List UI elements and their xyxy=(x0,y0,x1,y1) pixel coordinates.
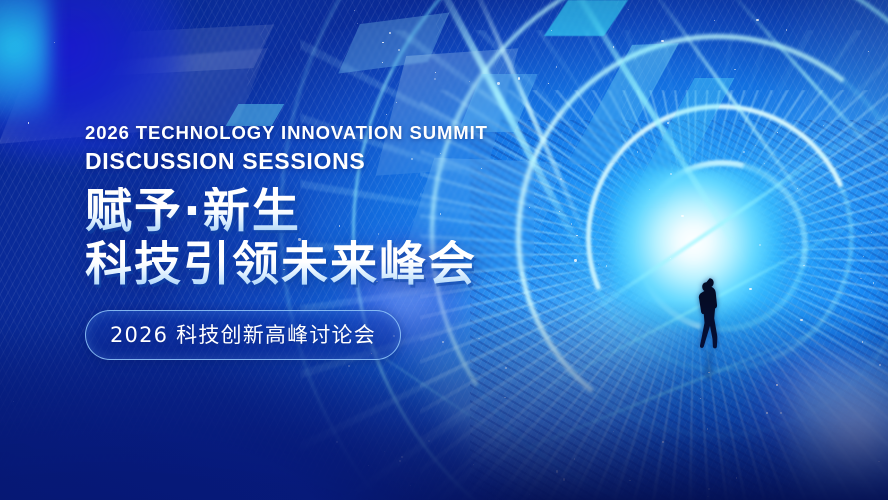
person-reflection xyxy=(694,348,724,382)
banner-text-block: 2026 TECHNOLOGY INNOVATION SUMMIT DISCUS… xyxy=(85,122,555,360)
particle-dot xyxy=(13,401,14,402)
blob-white-right xyxy=(790,360,888,500)
headline-line-1: 赋予·新生 xyxy=(85,187,555,237)
walking-person-silhouette xyxy=(694,277,724,349)
cta-pill-label: 2026 科技创新高峰讨论会 xyxy=(110,319,376,349)
eyebrow-line-2: DISCUSSION SESSIONS xyxy=(85,147,555,177)
headline-line-2: 科技引领未来峰会 xyxy=(85,240,555,290)
blob-cyan-left xyxy=(0,0,50,120)
summit-banner: 2026 TECHNOLOGY INNOVATION SUMMIT DISCUS… xyxy=(0,0,888,500)
eyebrow-line-1: 2026 TECHNOLOGY INNOVATION SUMMIT xyxy=(85,122,555,145)
cta-pill-button[interactable]: 2026 科技创新高峰讨论会 xyxy=(85,310,401,360)
